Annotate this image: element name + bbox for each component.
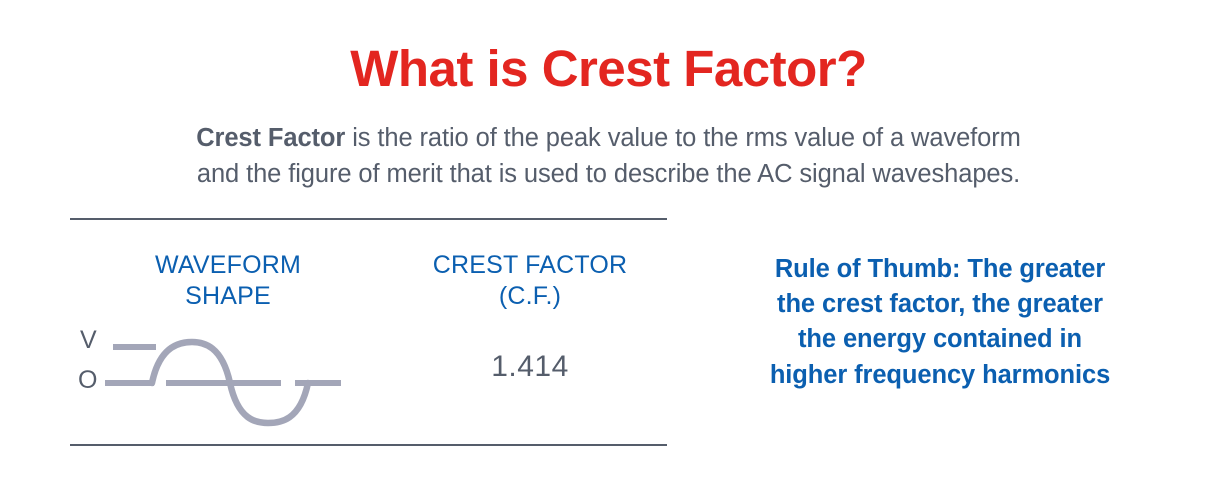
rule-of-thumb-line-3: the energy contained in bbox=[705, 322, 1175, 357]
column-header-waveform-shape-line1: WAVEFORM bbox=[78, 250, 378, 281]
column-header-crest-factor-line1: CREST FACTOR bbox=[390, 250, 670, 281]
page-title: What is Crest Factor? bbox=[0, 42, 1217, 96]
sine-wave-icon bbox=[74, 322, 374, 432]
definition-paragraph: Crest Factor is the ratio of the peak va… bbox=[0, 120, 1217, 192]
column-header-waveform-shape-line2: SHAPE bbox=[78, 281, 378, 312]
definition-lead-term: Crest Factor bbox=[196, 124, 345, 152]
divider-bottom bbox=[70, 444, 667, 446]
infographic-canvas: What is Crest Factor? Crest Factor is th… bbox=[0, 0, 1217, 495]
column-header-crest-factor: CREST FACTOR (C.F.) bbox=[390, 250, 670, 311]
column-header-waveform-shape: WAVEFORM SHAPE bbox=[78, 250, 378, 311]
column-header-crest-factor-line2: (C.F.) bbox=[390, 281, 670, 312]
definition-line-1-rest: is the ratio of the peak value to the rm… bbox=[345, 124, 1021, 152]
definition-line-2: and the figure of merit that is used to … bbox=[0, 156, 1217, 192]
rule-of-thumb-callout: Rule of Thumb: The greater the crest fac… bbox=[705, 252, 1175, 393]
divider-top bbox=[70, 218, 667, 220]
rule-of-thumb-line-1: Rule of Thumb: The greater bbox=[705, 252, 1175, 287]
definition-line-1: Crest Factor is the ratio of the peak va… bbox=[0, 120, 1217, 156]
rule-of-thumb-line-2: the crest factor, the greater bbox=[705, 287, 1175, 322]
rule-of-thumb-line-4: higher frequency harmonics bbox=[705, 358, 1175, 393]
waveform-figure-sine: V O bbox=[74, 322, 374, 432]
crest-factor-value: 1.414 bbox=[390, 350, 670, 384]
